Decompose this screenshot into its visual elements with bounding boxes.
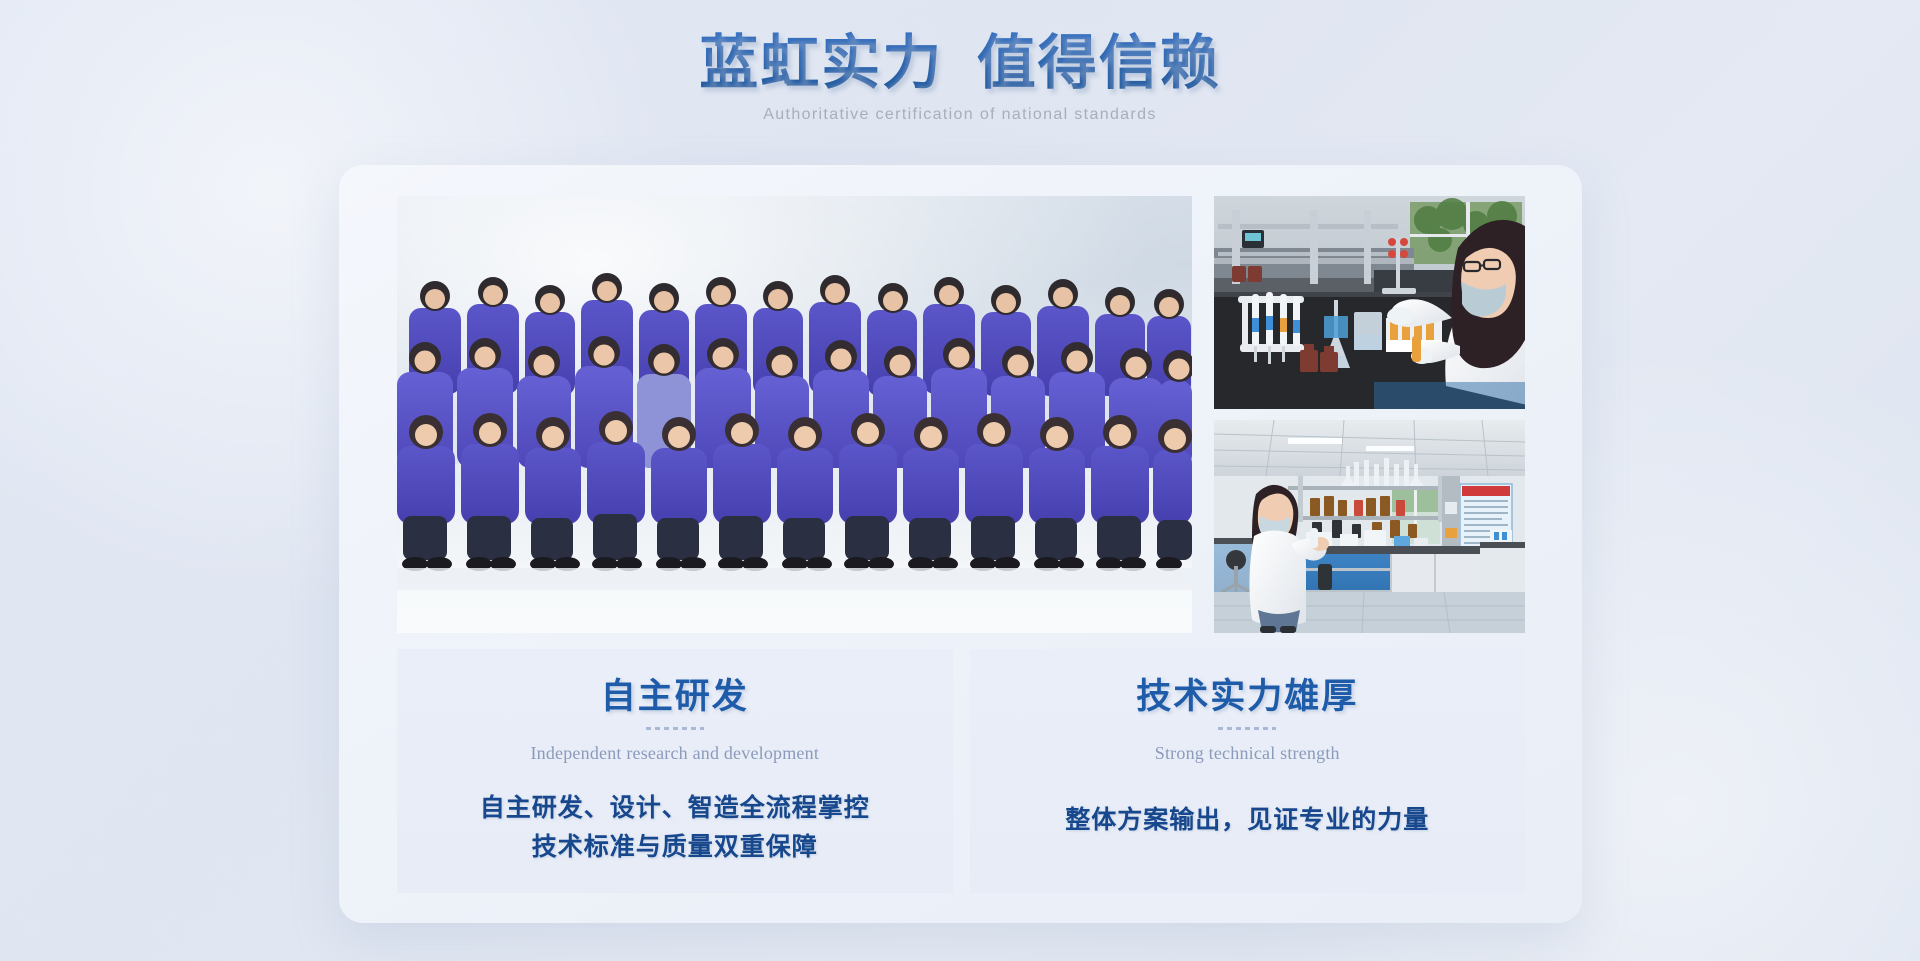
feature-card-tech-subtitle: Strong technical strength bbox=[970, 743, 1526, 764]
page-title: 蓝虹实力 值得信赖 bbox=[0, 28, 1920, 100]
feature-card-rd-body: 自主研发、设计、智造全流程掌控 技术标准与质量双重保障 bbox=[397, 790, 953, 868]
dotted-divider-icon bbox=[1218, 727, 1276, 730]
feature-card-rd-subtitle: Independent research and development bbox=[397, 743, 953, 764]
page-header: 蓝虹实力 值得信赖 Authoritative certification of… bbox=[0, 28, 1920, 124]
lab-room-artwork bbox=[1214, 420, 1525, 633]
feature-card-tech-title: 技术实力雄厚 bbox=[970, 675, 1526, 719]
dotted-divider-icon bbox=[646, 727, 704, 730]
feature-card-rd: 自主研发 Independent research and developmen… bbox=[397, 649, 953, 893]
lab-pipette-artwork bbox=[1214, 196, 1525, 409]
feature-cards: 自主研发 Independent research and developmen… bbox=[397, 649, 1525, 893]
content-panel: 公司全体员工合影 bbox=[339, 165, 1582, 923]
lab-pipette-photo: 实验室移液操作 bbox=[1214, 196, 1525, 409]
side-photo-column: 实验室移液操作 bbox=[1214, 196, 1525, 633]
lab-room-photo: 实验室全景 bbox=[1214, 420, 1525, 633]
group-photo-artwork bbox=[397, 196, 1192, 633]
photo-grid: 公司全体员工合影 bbox=[397, 196, 1525, 633]
page-subtitle: Authoritative certification of national … bbox=[0, 106, 1920, 124]
feature-card-rd-title: 自主研发 bbox=[397, 675, 953, 719]
feature-card-tech: 技术实力雄厚 Strong technical strength 整体方案输出，… bbox=[970, 649, 1526, 893]
feature-card-tech-body: 整体方案输出，见证专业的力量 bbox=[970, 802, 1526, 841]
company-group-photo: 公司全体员工合影 bbox=[397, 196, 1192, 633]
